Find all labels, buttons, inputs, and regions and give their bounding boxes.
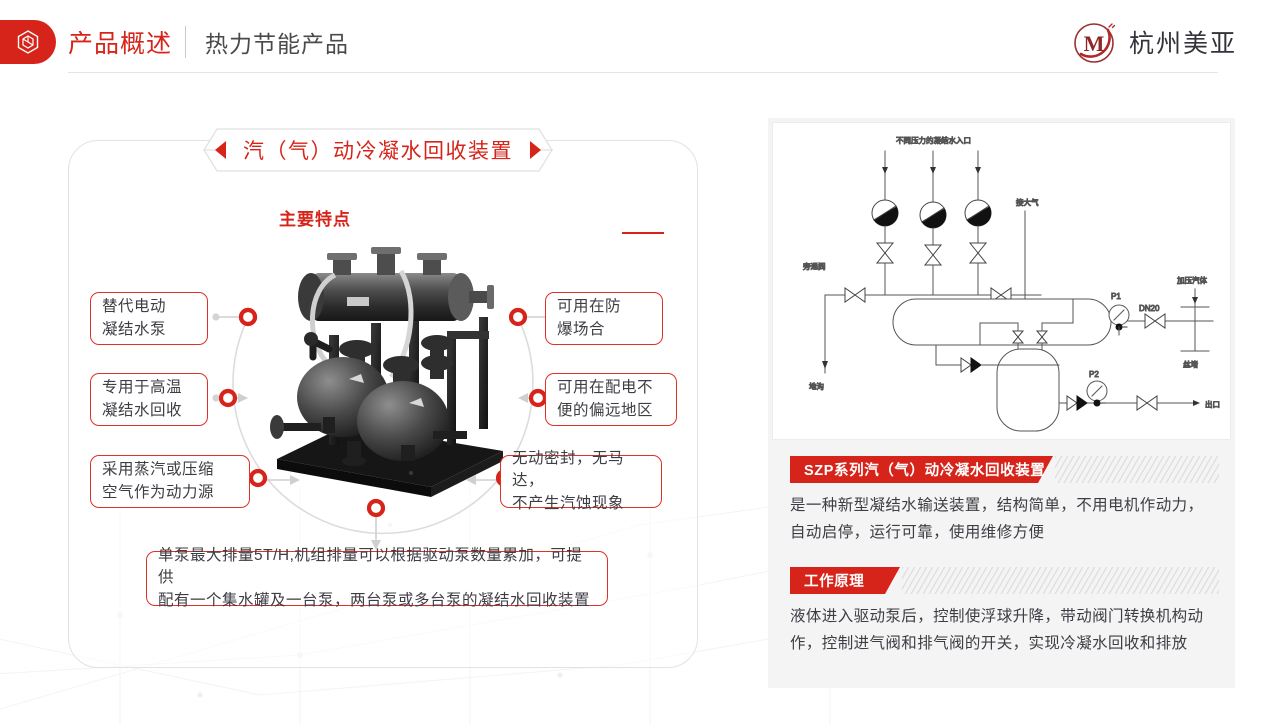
page-subtitle: 热力节能产品 xyxy=(205,25,349,59)
header-badge xyxy=(0,20,56,64)
section-tag-1-hatch xyxy=(1055,456,1219,483)
cube-hexagon-icon xyxy=(15,29,41,55)
page-header: 产品概述 热力节能产品 M 杭州美亚 xyxy=(0,0,1285,82)
feature-callout-2-line1: 专用于高温 xyxy=(102,377,182,399)
section-tag-2-hatch xyxy=(902,567,1219,594)
feature-callout-1[interactable]: 替代电动 凝结水泵 xyxy=(90,292,208,345)
feature-callout-4-line2: 爆场合 xyxy=(557,319,621,341)
diagram-label-plug: 丝堵 xyxy=(1183,359,1199,369)
brand-logo: M 杭州美亚 xyxy=(1071,18,1237,66)
feature-callout-6-line1: 无动密封，无马达， xyxy=(512,448,650,493)
feature-callout-2-line2: 凝结水回收 xyxy=(102,400,182,422)
header-divider xyxy=(185,26,186,58)
slide-root: 产品概述 热力节能产品 M 杭州美亚 汽（气）动冷凝水回收装置 主要特点 xyxy=(0,0,1285,725)
feature-callout-3[interactable]: 采用蒸汽或压缩 空气作为动力源 xyxy=(90,455,250,508)
diagram-label-atmosphere: 接大气 xyxy=(1016,197,1039,207)
section-tag-1-label: SZP系列汽（气）动冷凝水回收装置 xyxy=(790,459,1045,480)
diagram-label-pressurized-gas: 加压汽体 xyxy=(1177,275,1207,285)
feature-callout-2[interactable]: 专用于高温 凝结水回收 xyxy=(90,373,208,426)
schematic-diagram-container: 不同压力的凝结水入口 xyxy=(772,122,1231,440)
diagram-label-p1: P1 xyxy=(1111,292,1121,301)
svg-text:M: M xyxy=(1084,31,1105,56)
section-body-2-line1: 液体进入驱动泵后，控制使浮球升降，带动阀门转换机构动 xyxy=(790,603,1230,630)
diagram-label-inlet: 不同压力的凝结水入口 xyxy=(896,135,971,145)
header-rule xyxy=(68,72,1218,73)
section-body-1: 是一种新型凝结水输送装置，结构简单，不用电机作动力， 自动启停，运行可靠，使用维… xyxy=(790,492,1230,546)
meiya-m-logo-icon: M xyxy=(1071,18,1119,66)
section-body-1-line1: 是一种新型凝结水输送装置，结构简单，不用电机作动力， xyxy=(790,492,1230,519)
feature-callout-6-line2: 不产生汽蚀现象 xyxy=(512,493,650,515)
feature-callout-5-line2: 便的偏远地区 xyxy=(557,400,653,422)
product-photo xyxy=(251,245,521,505)
feature-callout-3-line2: 空气作为动力源 xyxy=(102,482,214,504)
diagram-label-dn20: DN20 xyxy=(1139,304,1160,313)
feature-callout-5-line1: 可用在配电不 xyxy=(557,377,653,399)
feature-callout-4-line1: 可用在防 xyxy=(557,296,621,318)
page-title: 产品概述 xyxy=(68,24,172,60)
diagram-label-outlet: 出口 xyxy=(1205,399,1220,409)
feature-callout-4[interactable]: 可用在防 爆场合 xyxy=(545,292,663,345)
section-body-1-line2: 自动启停，运行可靠，使用维修方便 xyxy=(790,519,1230,546)
feature-callout-6[interactable]: 无动密封，无马达， 不产生汽蚀现象 xyxy=(500,455,662,508)
section-tag-1: SZP系列汽（气）动冷凝水回收装置 xyxy=(790,456,1053,483)
szp-schematic: 不同压力的凝结水入口 xyxy=(773,123,1231,440)
feature-callout-bottom-line1: 单泵最大排量5T/H,机组排量可以根据驱动泵数量累加，可提供 xyxy=(158,545,596,590)
section-tag-2: 工作原理 xyxy=(790,567,900,594)
section-tag-2-label: 工作原理 xyxy=(790,570,864,591)
diagram-label-p2: P2 xyxy=(1089,370,1099,379)
section-body-2: 液体进入驱动泵后，控制使浮球升降，带动阀门转换机构动 作，控制进气阀和排气阀的开… xyxy=(790,603,1230,657)
section-body-2-line2: 作，控制进气阀和排气阀的开关，实现冷凝水回收和排放 xyxy=(790,630,1230,657)
diagram-label-bypass: 旁通阀 xyxy=(803,261,826,271)
feature-callout-3-line1: 采用蒸汽或压缩 xyxy=(102,459,214,481)
brand-name: 杭州美亚 xyxy=(1129,24,1237,60)
feature-callout-bottom[interactable]: 单泵最大排量5T/H,机组排量可以根据驱动泵数量累加，可提供 配有一个集水罐及一… xyxy=(146,551,608,606)
feature-callout-5[interactable]: 可用在配电不 便的偏远地区 xyxy=(545,373,677,426)
feature-callout-1-line1: 替代电动 xyxy=(102,296,166,318)
feature-callout-1-line2: 凝结水泵 xyxy=(102,319,166,341)
diagram-label-trench: 地沟 xyxy=(809,381,824,391)
feature-callout-bottom-line2: 配有一个集水罐及一台泵，两台泵或多台泵的凝结水回收装置 xyxy=(158,590,596,612)
